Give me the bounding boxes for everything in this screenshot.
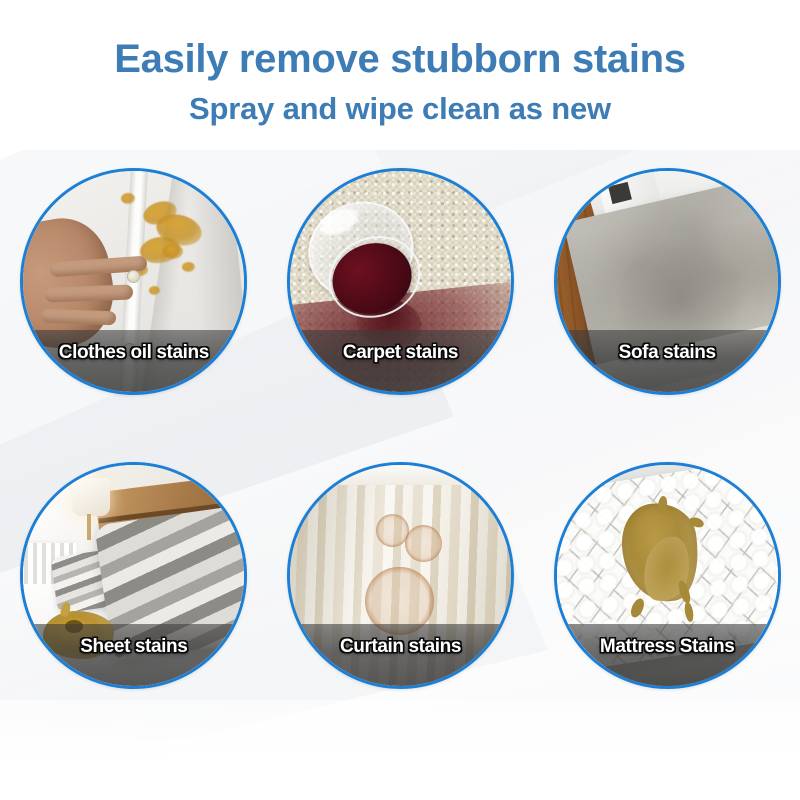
lamp-arm [87, 514, 91, 541]
caption-label: Sofa stains [619, 342, 716, 364]
oil-stain-8 [121, 193, 135, 204]
grid-cell-curtain-stains[interactable]: Curtain stains [280, 454, 520, 694]
caption-band: Curtain stains [290, 624, 511, 686]
caption-band: Clothes oil stains [23, 330, 244, 392]
finger-2 [45, 284, 134, 302]
headline: Easily remove stubborn stains [0, 38, 800, 80]
header: Easily remove stubborn stains Spray and … [0, 0, 800, 126]
caption-label: Curtain stains [340, 636, 461, 658]
circle-thumb-mattress-stains[interactable]: Mattress Stains [554, 462, 781, 689]
grid-cell-sheet-stains[interactable]: Sheet stains [13, 454, 253, 694]
caption-band: Sheet stains [23, 624, 244, 686]
grid-cell-clothes-oil-stains[interactable]: Clothes oil stains [13, 160, 253, 400]
circle-thumb-carpet-stains[interactable]: Carpet stains [287, 168, 514, 395]
circle-thumb-sheet-stains[interactable]: Sheet stains [20, 462, 247, 689]
grid-cell-mattress-stains[interactable]: Mattress Stains [547, 454, 787, 694]
caption-band: Carpet stains [290, 330, 511, 392]
subheadline: Spray and wipe clean as new [0, 92, 800, 126]
lamp-shade [72, 478, 110, 516]
caption-label: Carpet stains [343, 342, 458, 364]
oil-stain-4 [163, 244, 183, 259]
oil-stain-6 [182, 262, 195, 272]
grid-cell-sofa-stains[interactable]: Sofa stains [547, 160, 787, 400]
circle-thumb-sofa-stains[interactable]: Sofa stains [554, 168, 781, 395]
curtain-top-wall [290, 465, 511, 485]
circle-thumb-curtain-stains[interactable]: Curtain stains [287, 462, 514, 689]
caption-label: Clothes oil stains [59, 342, 209, 364]
caption-label: Mattress Stains [600, 636, 734, 658]
caption-band: Sofa stains [557, 330, 778, 392]
circle-thumb-clothes-oil-stains[interactable]: Clothes oil stains [20, 168, 247, 395]
caption-band: Mattress Stains [557, 624, 778, 686]
caption-label: Sheet stains [80, 636, 187, 658]
stain-type-grid: Clothes oil stains Carpet stains [0, 160, 800, 748]
grid-cell-carpet-stains[interactable]: Carpet stains [280, 160, 520, 400]
finger-3 [41, 309, 117, 326]
